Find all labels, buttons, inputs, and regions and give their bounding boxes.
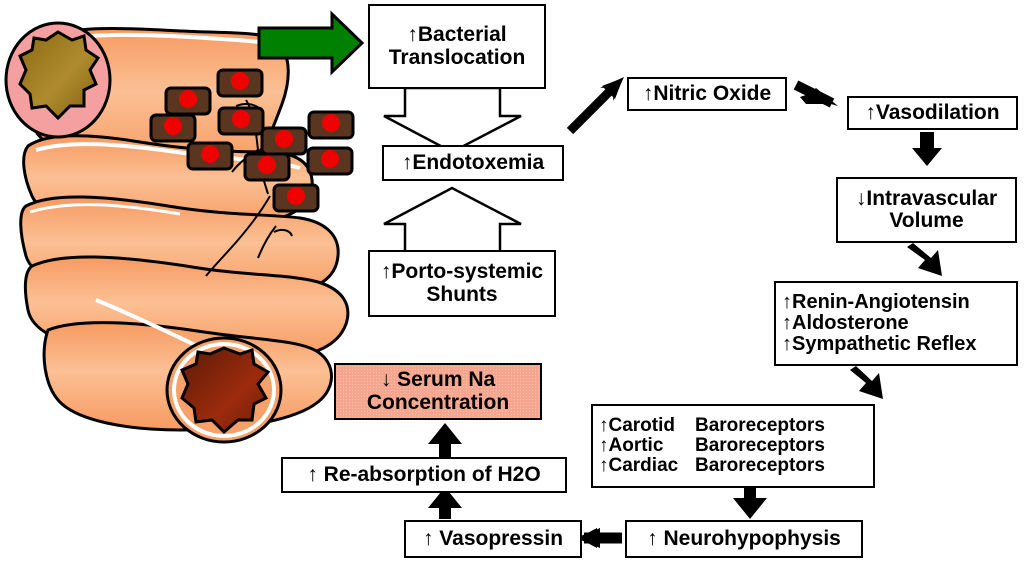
arrow-endotoxemia-to-nitric-oxide: [570, 77, 624, 131]
bacteria-item: [245, 154, 289, 180]
node-bacterial-translocation[interactable]: ↑Bacterial Translocation: [368, 4, 546, 89]
baroreceptor-line-2: ↑Aortic Baroreceptors: [599, 436, 873, 456]
node-serum-na-concentration[interactable]: ↓ Serum Na Concentration: [334, 363, 542, 420]
bowel-sketch-lines: [206, 100, 292, 276]
bacteria-group: [151, 70, 353, 211]
arrow-baroreceptors-to-neurohypophysis: [733, 487, 767, 519]
arrow-translocation-to-endotoxemia: [384, 88, 521, 152]
node-endotoxemia[interactable]: ↑Endotoxemia: [382, 145, 564, 181]
bowel-cut-end-bottom: [167, 338, 281, 442]
bacteria-item: [262, 128, 306, 154]
baroreceptor-line-1: ↑Carotid Baroreceptors: [599, 416, 873, 436]
node-porto-systemic-shunts[interactable]: ↑Porto-systemic Shunts: [368, 250, 556, 317]
arrow-renin-to-baroreceptors: [850, 366, 883, 399]
node-intravascular-volume[interactable]: ↓Intravascular Volume: [836, 177, 1017, 243]
arrow-neurohypophysis-to-vasopressin: [576, 528, 622, 548]
node-vasopressin[interactable]: ↑ Vasopressin: [404, 520, 582, 558]
arrow-shunts-to-endotoxemia: [384, 188, 521, 252]
node-baroreceptors-block[interactable]: ↑Carotid Baroreceptors ↑Aortic Barorecep…: [591, 404, 875, 488]
renin-line-3: ↑Sympathetic Reflex: [782, 334, 977, 355]
bacteria-item: [308, 148, 352, 174]
renin-line-1: ↑Renin-Angiotensin: [782, 292, 970, 313]
node-renin-block[interactable]: ↑Renin-Angiotensin ↑Aldosterone ↑Sympath…: [774, 281, 1018, 366]
arrow-vasodilation-to-volume: [912, 132, 942, 166]
green-arrow-icon: [259, 14, 362, 72]
node-neurohypophysis[interactable]: ↑ Neurohypophysis: [625, 520, 863, 558]
renin-line-2: ↑Aldosterone: [782, 313, 909, 334]
bacteria-item: [274, 185, 318, 211]
node-vasodilation[interactable]: ↑Vasodilation: [847, 96, 1018, 130]
bacteria-item: [309, 112, 353, 138]
bacteria-item: [188, 143, 232, 169]
arrow-reabsorption-to-serum-na: [428, 423, 462, 458]
arrow-volume-to-renin: [907, 243, 942, 276]
bacteria-item: [151, 115, 195, 141]
bacteria-item: [166, 88, 210, 114]
node-nitric-oxide[interactable]: ↑Nitric Oxide: [627, 77, 787, 111]
arrow-nitric-oxide-to-vasodilation: [796, 85, 838, 106]
node-reabsorption-h2o[interactable]: ↑ Re-absorption of H2O: [281, 457, 567, 493]
bowel-cut-end-top: [6, 23, 110, 137]
bacteria-item: [218, 70, 262, 96]
bowel-loops: [21, 29, 348, 430]
baroreceptor-line-3: ↑Cardiac Baroreceptors: [599, 456, 873, 476]
bacteria-item: [219, 108, 263, 134]
diagram-canvas: ↑Bacterial Translocation ↑Endotoxemia ↑P…: [0, 0, 1024, 562]
